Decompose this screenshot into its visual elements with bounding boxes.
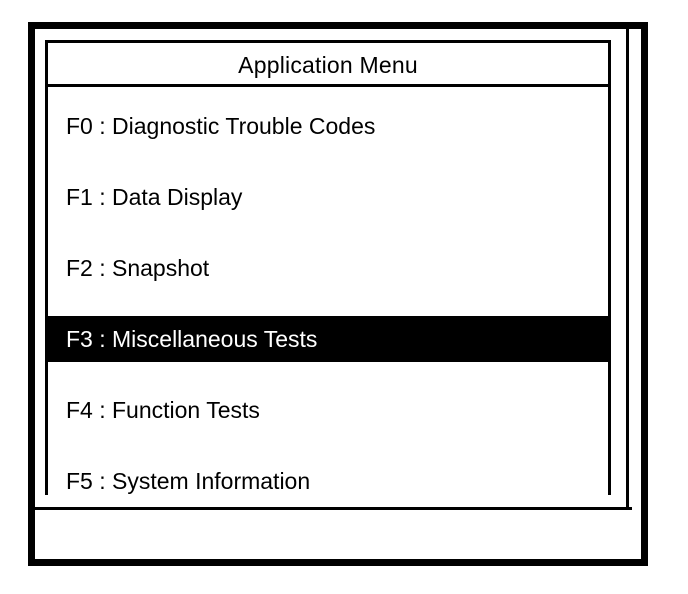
application-menu-panel: Application Menu F0 : Diagnostic Trouble… xyxy=(45,40,611,495)
menu-item-f0[interactable]: F0 : Diagnostic Trouble Codes xyxy=(48,91,608,162)
menu-item-label: F5 : System Information xyxy=(66,468,310,494)
status-bar xyxy=(35,507,632,547)
menu-list: F0 : Diagnostic Trouble Codes F1 : Data … xyxy=(48,87,608,491)
menu-item-label: F3 : Miscellaneous Tests xyxy=(66,326,317,352)
device-frame: Application Menu F0 : Diagnostic Trouble… xyxy=(28,22,648,566)
status-bar-text xyxy=(35,510,632,519)
menu-item-f1[interactable]: F1 : Data Display xyxy=(48,162,608,233)
menu-item-label: F1 : Data Display xyxy=(66,184,242,210)
menu-item-label: F2 : Snapshot xyxy=(66,255,209,281)
menu-item-f3-selected[interactable]: F3 : Miscellaneous Tests xyxy=(48,316,608,362)
menu-item-f2[interactable]: F2 : Snapshot xyxy=(48,233,608,304)
menu-item-label: F4 : Function Tests xyxy=(66,397,260,423)
menu-item-f4[interactable]: F4 : Function Tests xyxy=(48,375,608,446)
menu-item-label: F0 : Diagnostic Trouble Codes xyxy=(66,113,375,139)
page-title: Application Menu xyxy=(48,43,608,87)
